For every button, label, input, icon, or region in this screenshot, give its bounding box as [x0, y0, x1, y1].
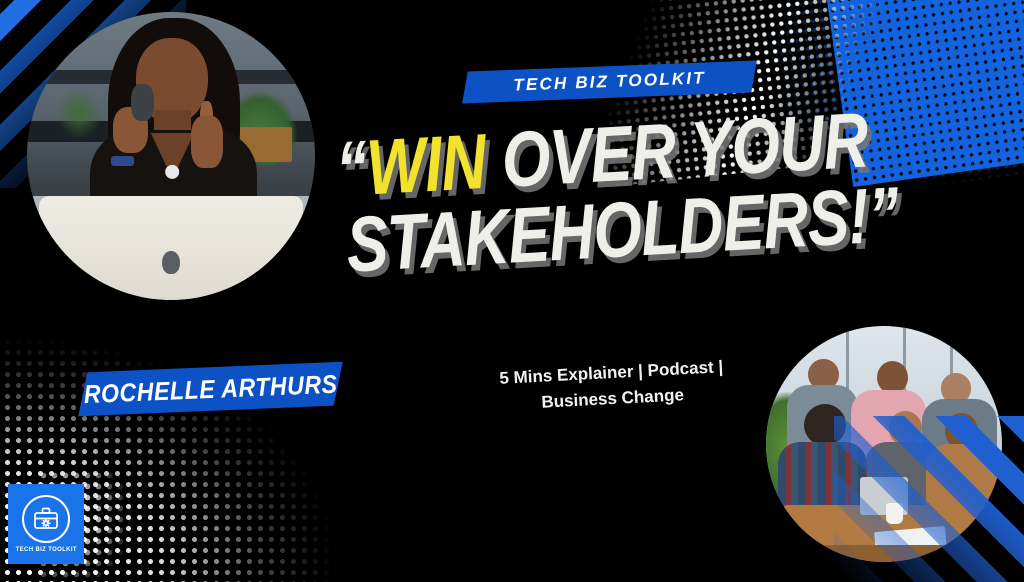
headline: “WIN OVER YOUR STAKEHOLDERS!” — [332, 102, 919, 282]
thumbnail-canvas: TECH BIZ TOOLKIT “WIN OVER YOUR STAKEHOL… — [0, 0, 1024, 582]
brand-banner: TECH BIZ TOOLKIT — [462, 61, 757, 104]
speaker-name-banner: ROCHELLE ARTHURS — [78, 362, 343, 417]
subtitle: 5 Mins Explainer | Podcast | Business Ch… — [461, 352, 763, 420]
team-photo-art — [766, 326, 1002, 562]
speaker-name-label: ROCHELLE ARTHURS — [83, 368, 338, 409]
toolbox-gear-icon — [22, 495, 70, 543]
close-quote: ” — [866, 170, 901, 260]
host-photo-art — [27, 12, 315, 300]
brand-banner-label: TECH BIZ TOOLKIT — [513, 68, 706, 95]
logo-badge[interactable]: TECH BIZ TOOLKIT — [8, 484, 84, 564]
team-meeting-photo — [766, 326, 1002, 562]
logo-text: TECH BIZ TOOLKIT — [15, 546, 76, 553]
host-portrait-photo — [27, 12, 315, 300]
headline-line-2: STAKEHOLDERS!” — [345, 184, 806, 281]
